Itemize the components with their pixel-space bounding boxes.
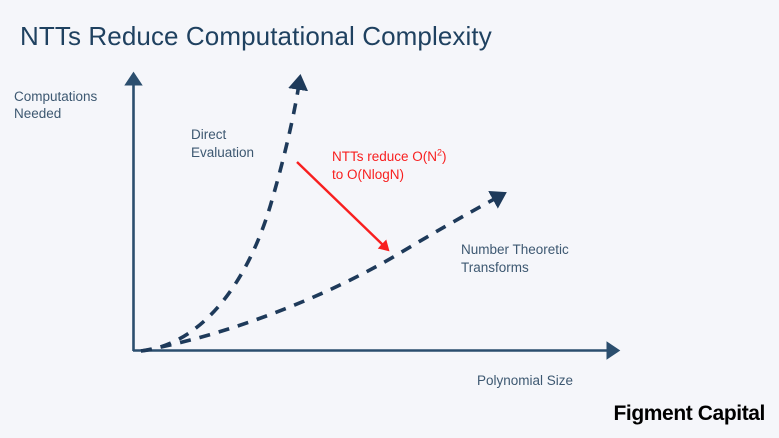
direct-evaluation-label: Direct Evaluation [191, 126, 254, 162]
annotation-line-2: to O(NlogN) [332, 167, 404, 182]
annotation-text: NTTs reduce O(N2) to O(NlogN) [332, 148, 447, 184]
annotation-line-1: NTTs reduce O(N2) [332, 149, 447, 164]
brand-logo: Figment Capital [613, 402, 765, 426]
complexity-chart [0, 0, 779, 438]
slide-canvas: NTTs Reduce Computational Complexity Com… [0, 0, 779, 438]
number-theoretic-transforms-label: Number Theoretic Transforms [461, 241, 569, 277]
ntt-curve [141, 197, 498, 351]
x-axis-label: Polynomial Size [477, 372, 573, 389]
annotation-line-1-pre: NTTs reduce O(N [332, 149, 437, 164]
annotation-line-1-post: ) [442, 149, 447, 164]
y-axis-label: Computations Needed [14, 88, 97, 122]
